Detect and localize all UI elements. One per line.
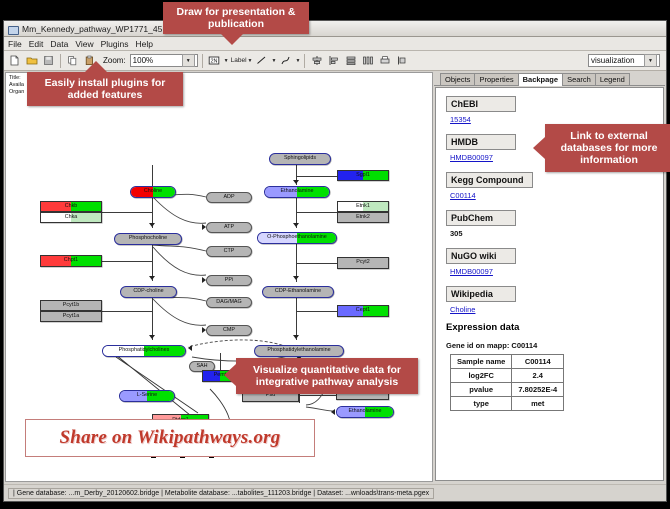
node-phosphocholine[interactable]: Phosphocholine (114, 233, 182, 245)
node-adp[interactable]: ADP (206, 192, 252, 203)
node-label: CDP-choline (133, 289, 163, 294)
node-label: CTP (224, 249, 235, 254)
node-pcyt1b[interactable]: Pcyt1b (40, 300, 102, 311)
callout-share: Share on Wikipathways.org (25, 419, 315, 457)
callout-arrow-left-icon (224, 364, 236, 386)
pathvisio-app-icon (8, 24, 18, 34)
node-cept1[interactable]: Cept1 (337, 305, 389, 317)
node-label: Phosphocholine (129, 236, 167, 241)
toolbar-separator (202, 54, 203, 68)
node-label: CMP (223, 328, 235, 333)
info-title: Title: (9, 75, 24, 82)
node-ethanolamine-top[interactable]: Ethanolamine (264, 186, 330, 198)
cell-key: type (451, 397, 512, 411)
edge-pcyt1-to-reaction (102, 311, 152, 312)
line-tool-icon[interactable] (254, 53, 269, 68)
edge-chpt1-to-reaction (102, 261, 152, 262)
visualization-value: visualization (591, 56, 644, 65)
node-sgpl1[interactable]: Sgpl1 (337, 170, 389, 181)
table-row: type met (451, 397, 564, 411)
interaction-tool-icon[interactable] (278, 53, 293, 68)
table-row: Sample name C00114 (451, 355, 564, 369)
statusbar-text: | Gene database: ...m_Derby_20120602.bri… (8, 488, 434, 499)
menu-data[interactable]: Data (50, 39, 68, 49)
node-label: PPi (225, 278, 233, 283)
cofactor-arcs-choline (146, 183, 218, 348)
node-label: Ethanolamine (281, 189, 314, 194)
cell-key: log2FC (451, 369, 512, 383)
node-label: Etnk1 (356, 204, 370, 209)
node-label: O-Phosphoethanolamine (267, 235, 327, 240)
tab-legend[interactable]: Legend (595, 73, 630, 85)
node-label: Cept1 (356, 308, 370, 313)
arrow-down-icon (293, 180, 299, 184)
db-link-nugo[interactable]: HMDB00097 (450, 267, 663, 276)
interaction-dropdown[interactable]: ▼ (295, 58, 300, 64)
node-atp[interactable]: ATP (206, 222, 252, 233)
node-cdp-ethanolamine[interactable]: CDP-Ethanolamine (262, 286, 334, 298)
callout-visualize: Visualize quantitative data for integrat… (236, 358, 418, 394)
node-ethanolamine-bottom[interactable]: Ethanolamine (336, 406, 394, 418)
arrow-down-icon (293, 276, 299, 280)
expression-heading: Expression data (446, 322, 663, 333)
node-phosphatidylcholines[interactable]: Phosphatidylcholines (102, 345, 186, 357)
callout-draw: Draw for presentation & publication (163, 2, 309, 34)
node-label: Phosphatidylethanolamine (267, 348, 330, 353)
visualization-combo[interactable]: visualization ▼ (588, 54, 660, 67)
node-pcyt1a[interactable]: Pcyt1a (40, 311, 102, 322)
datanode-dropdown[interactable]: ▼ (224, 58, 229, 64)
db-link-wikipedia[interactable]: Choline (450, 305, 663, 314)
db-header-chebi: ChEBI (446, 96, 516, 112)
node-ctp[interactable]: CTP (206, 246, 252, 257)
node-label: ATP (224, 225, 234, 230)
copy-icon[interactable] (65, 53, 80, 68)
arrow-left-icon (331, 409, 335, 415)
line-dropdown[interactable]: ▼ (271, 58, 276, 64)
node-label: Pcyt1b (63, 303, 79, 308)
db-header-hmdb: HMDB (446, 134, 516, 150)
info-available: Availa (9, 82, 24, 89)
node-choline-top[interactable]: Choline (130, 186, 176, 198)
callout-links: Link to external databases for more info… (545, 124, 670, 172)
callout-arrow-down-icon (221, 34, 243, 45)
stack-icon[interactable] (343, 53, 358, 68)
cell-key: pvalue (451, 383, 512, 397)
table-row: pvalue 7.80252E-4 (451, 383, 564, 397)
chevron-down-icon[interactable]: ▼ (644, 54, 657, 67)
screenshot-root: Mm_Kennedy_pathway_WP1771_45176.gpml Fil… (0, 0, 670, 509)
align-center-icon[interactable] (309, 53, 324, 68)
db-link-kegg[interactable]: C00114 (450, 191, 663, 200)
menu-view[interactable]: View (75, 39, 93, 49)
share-text: Share on Wikipathways.org (60, 427, 281, 449)
distribute-icon[interactable] (360, 53, 375, 68)
node-chpt1[interactable]: Chpt1 (40, 255, 102, 267)
zoom-combo[interactable]: 100% ▼ (130, 54, 198, 67)
node-label: Chkb (65, 204, 78, 209)
node-label: Chka (65, 215, 78, 220)
db-header-kegg: Kegg Compound (446, 172, 533, 188)
node-pcyt2[interactable]: Pcyt2 (337, 257, 389, 269)
node-label: Pcyt1a (63, 314, 79, 319)
edge-sgpl1 (296, 176, 338, 177)
node-cmp[interactable]: CMP (206, 325, 252, 336)
node-l-serine-left[interactable]: L-Serine (119, 390, 175, 402)
node-label: Etnk2 (356, 215, 370, 220)
node-etnk1[interactable]: Etnk1 (337, 201, 389, 212)
node-label: Chpt1 (64, 258, 78, 263)
edge-cdpetn-ptdetn (296, 298, 297, 340)
db-header-pubchem: PubChem (446, 210, 516, 226)
node-label: ADP (223, 195, 234, 200)
db-link-chebi[interactable]: 15354 (450, 115, 663, 124)
table-row: log2FC 2.4 (451, 369, 564, 383)
expression-table: Sample name C00114 log2FC 2.4 pvalue 7.8… (450, 354, 564, 411)
node-phosphatidylethanolamine[interactable]: Phosphatidylethanolamine (254, 345, 344, 357)
node-label: Sphingolipids (284, 156, 316, 161)
info-organism: Organ (9, 89, 24, 96)
arrow-down-icon (293, 223, 299, 227)
callout-arrow-up-icon (85, 61, 107, 72)
node-label: Choline (144, 189, 162, 194)
properties-icon[interactable] (394, 53, 409, 68)
new-document-icon[interactable] (7, 53, 22, 68)
tab-search[interactable]: Search (562, 73, 596, 85)
open-folder-icon[interactable] (24, 53, 39, 68)
edge-pcyt2 (296, 263, 338, 264)
save-disk-icon[interactable] (41, 53, 56, 68)
db-header-wikipedia: Wikipedia (446, 286, 516, 302)
node-o-phosphoethanolamine[interactable]: O-Phosphoethanolamine (257, 232, 337, 244)
node-label: DAG/MAG (216, 300, 241, 305)
db-value-pubchem: 305 (450, 229, 663, 238)
node-chka[interactable]: Chka (40, 212, 102, 223)
tab-backpage[interactable]: Backpage (518, 73, 563, 86)
node-chkb[interactable]: Chkb (40, 201, 102, 212)
menu-file[interactable]: File (8, 39, 22, 49)
cell-value: 2.4 (512, 369, 564, 383)
callout-plugins: Easily install plugins for added feature… (27, 72, 183, 106)
label-tool[interactable]: Label▼ (231, 57, 253, 64)
datanode-icon[interactable]: 2N (207, 53, 222, 68)
node-cdp-choline[interactable]: CDP-choline (120, 286, 177, 298)
edge-chk-to-reaction (102, 212, 152, 213)
node-label: Ethanolamine (349, 409, 382, 414)
toolbar-separator (304, 54, 305, 68)
statusbar: | Gene database: ...m_Derby_20120602.bri… (4, 484, 666, 501)
cell-key: Sample name (451, 355, 512, 369)
node-label: L-Serine (137, 393, 157, 398)
node-sphingolipids[interactable]: Sphingolipids (269, 153, 331, 165)
menu-plugins[interactable]: Plugins (101, 39, 129, 49)
toolbar-separator (60, 54, 61, 68)
node-ppi[interactable]: PPi (206, 275, 252, 286)
pathway-info-block: Title: Availa Organ (9, 75, 24, 96)
label-tool-label: Label (231, 57, 247, 64)
align-left-icon[interactable] (326, 53, 341, 68)
svg-text:2N: 2N (211, 59, 218, 65)
node-label: Sgpl1 (356, 173, 370, 178)
menu-edit[interactable]: Edit (29, 39, 44, 49)
side-panel-tabs: Objects Properties Backpage Search Legen… (434, 72, 665, 86)
callout-arrow-left-icon (533, 137, 545, 159)
chevron-down-icon[interactable]: ▼ (182, 54, 195, 67)
tab-properties[interactable]: Properties (474, 73, 518, 85)
node-label: Phosphatidylcholines (119, 348, 170, 353)
node-etnk2[interactable]: Etnk2 (337, 212, 389, 223)
menu-help[interactable]: Help (136, 39, 153, 49)
edge-etnk (296, 212, 338, 213)
node-label: Pcyt2 (356, 260, 369, 265)
cell-value: C00114 (512, 355, 564, 369)
db-header-nugo: NuGO wiki (446, 248, 516, 264)
zoom-value: 100% (133, 56, 182, 65)
node-dagmag[interactable]: DAG/MAG (206, 297, 252, 308)
edge-cept1 (296, 311, 338, 312)
node-label: CDP-Ethanolamine (275, 289, 321, 294)
menubar: File Edit Data View Plugins Help (4, 37, 666, 51)
node-label: SAH (196, 364, 207, 369)
window-titlebar: Mm_Kennedy_pathway_WP1771_45176.gpml (4, 21, 666, 37)
tab-objects[interactable]: Objects (440, 73, 475, 85)
cell-value: met (512, 397, 564, 411)
print-icon[interactable] (377, 53, 392, 68)
cell-value: 7.80252E-4 (512, 383, 564, 397)
gene-id-line: Gene id on mapp: C00114 (446, 341, 663, 350)
